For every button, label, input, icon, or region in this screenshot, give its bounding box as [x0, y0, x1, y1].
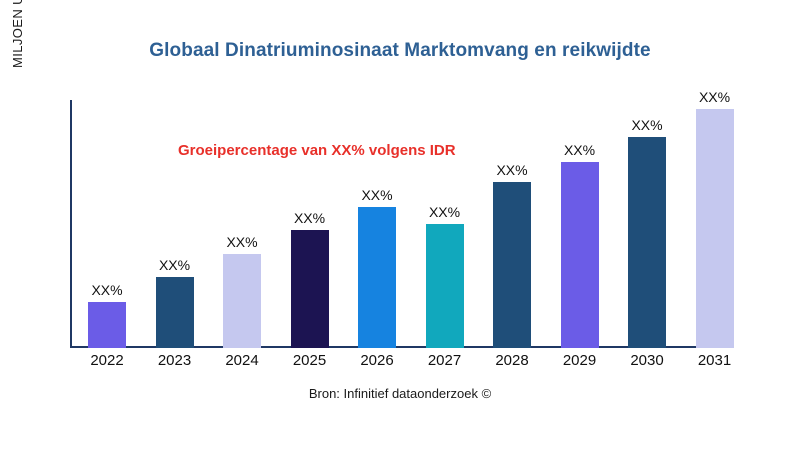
x-tick-label: 2028 — [478, 352, 546, 369]
bar[interactable] — [493, 182, 531, 348]
x-tick-label: 2031 — [681, 352, 749, 369]
x-tick-label: 2029 — [546, 352, 614, 369]
source-note: Bron: Infinitief dataonderzoek © — [0, 386, 800, 401]
bar[interactable] — [628, 137, 666, 348]
bar[interactable] — [156, 277, 194, 348]
bar-group: XX% — [613, 90, 681, 348]
bar-group: XX% — [681, 90, 749, 348]
bar[interactable] — [223, 254, 261, 348]
x-tick-label: 2026 — [343, 352, 411, 369]
bar-value-label: XX% — [478, 162, 546, 178]
bar-group: XX% — [208, 90, 276, 348]
bar[interactable] — [358, 207, 396, 348]
x-tick-label: 2023 — [141, 352, 209, 369]
x-tick-label: 2022 — [73, 352, 141, 369]
bar-group: XX% — [141, 90, 209, 348]
bar-value-label: XX% — [343, 187, 411, 203]
bar[interactable] — [561, 162, 599, 348]
x-tick-label: 2027 — [411, 352, 479, 369]
chart-container: Globaal Dinatriuminosinaat Marktomvang e… — [0, 0, 800, 450]
bar-group: XX% — [276, 90, 344, 348]
bar[interactable] — [696, 109, 734, 348]
bar-group: XX% — [478, 90, 546, 348]
bar-group: XX% — [546, 90, 614, 348]
bar-group: XX% — [343, 90, 411, 348]
x-tick-label: 2024 — [208, 352, 276, 369]
bar-value-label: XX% — [73, 282, 141, 298]
bar[interactable] — [88, 302, 126, 348]
x-axis-tick-labels: 2022202320242025202620272028202920302031 — [70, 352, 800, 376]
bar-value-label: XX% — [546, 142, 614, 158]
bar-value-label: XX% — [141, 257, 209, 273]
y-axis-label: MILJOEN USD — [10, 0, 36, 126]
x-tick-label: 2025 — [276, 352, 344, 369]
bar-group: XX% — [411, 90, 479, 348]
y-axis-label-text: MILJOEN USD — [10, 0, 25, 126]
bar[interactable] — [426, 224, 464, 348]
chart-title: Globaal Dinatriuminosinaat Marktomvang e… — [0, 40, 800, 62]
bar-value-label: XX% — [208, 234, 276, 250]
bar-value-label: XX% — [681, 89, 749, 105]
bar-value-label: XX% — [411, 204, 479, 220]
bar-value-label: XX% — [276, 210, 344, 226]
bar-group: XX% — [73, 90, 141, 348]
bar[interactable] — [291, 230, 329, 348]
x-tick-label: 2030 — [613, 352, 681, 369]
bars-layer: XX%XX%XX%XX%XX%XX%XX%XX%XX%XX% — [70, 90, 800, 348]
bar-value-label: XX% — [613, 117, 681, 133]
